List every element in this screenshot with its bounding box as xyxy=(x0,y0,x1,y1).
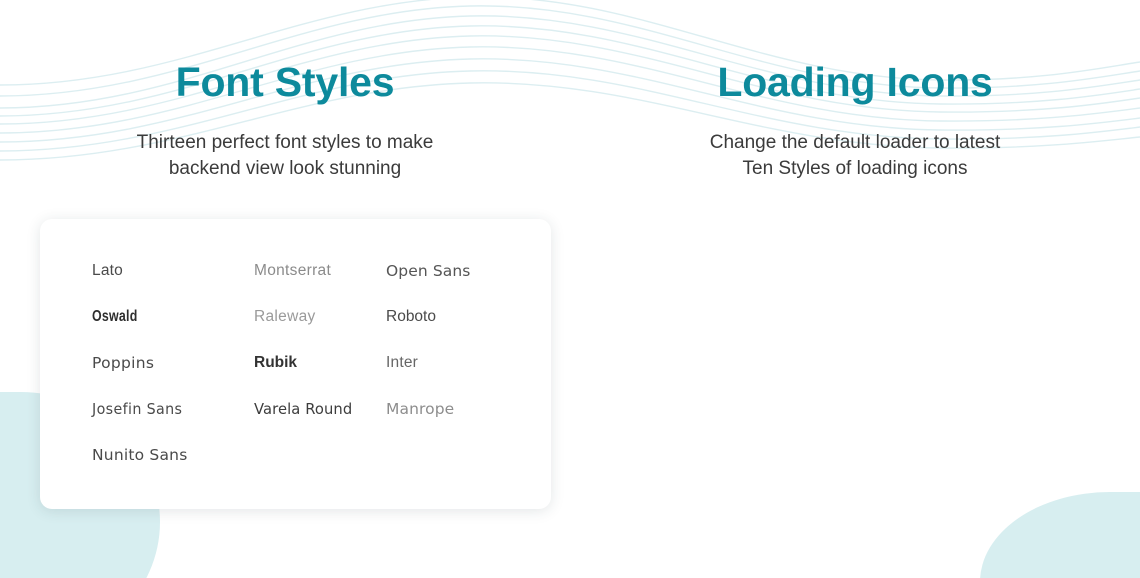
font-item-roboto[interactable]: Roboto xyxy=(386,305,512,329)
page-title-font-styles: Font Styles xyxy=(0,59,570,106)
font-item-josefin-sans[interactable]: Josefin Sans xyxy=(92,397,241,421)
panel-subtitle-loading-icons: Change the default loader to latest Ten … xyxy=(570,130,1140,182)
subtitle-line-1: Thirteen perfect font styles to make xyxy=(0,130,570,156)
subtitle-line-2: backend view look stunning xyxy=(0,156,570,182)
panel-font-styles: Font Styles Thirteen perfect font styles… xyxy=(0,0,570,578)
subtitle-line-1: Change the default loader to latest xyxy=(570,130,1140,156)
panel-subtitle-font-styles: Thirteen perfect font styles to make bac… xyxy=(0,130,570,182)
font-item-nunito-sans[interactable]: Nunito Sans xyxy=(92,443,254,467)
font-item-rubik[interactable]: Rubik xyxy=(254,351,386,375)
font-item-manrope[interactable]: Manrope xyxy=(386,397,512,421)
font-item-poppins[interactable]: Poppins xyxy=(92,351,254,375)
font-styles-card: Lato Montserrat Open Sans Oswald Raleway… xyxy=(40,219,551,509)
page-root: Font Styles Thirteen perfect font styles… xyxy=(0,0,1140,578)
font-item-inter[interactable]: Inter xyxy=(386,351,512,375)
font-item-montserrat[interactable]: Montserrat xyxy=(254,259,386,283)
font-item-varela-round[interactable]: Varela Round xyxy=(254,397,379,421)
font-item-open-sans[interactable]: Open Sans xyxy=(386,259,512,283)
subtitle-line-2: Ten Styles of loading icons xyxy=(570,156,1140,182)
page-title-loading-icons: Loading Icons xyxy=(570,59,1140,106)
font-item-oswald[interactable]: Oswald xyxy=(92,305,222,329)
font-list-grid: Lato Montserrat Open Sans Oswald Raleway… xyxy=(92,259,512,467)
panel-loading-icons: Loading Icons Change the default loader … xyxy=(570,0,1140,578)
font-item-raleway[interactable]: Raleway xyxy=(254,305,386,329)
font-item-lato[interactable]: Lato xyxy=(92,259,254,283)
